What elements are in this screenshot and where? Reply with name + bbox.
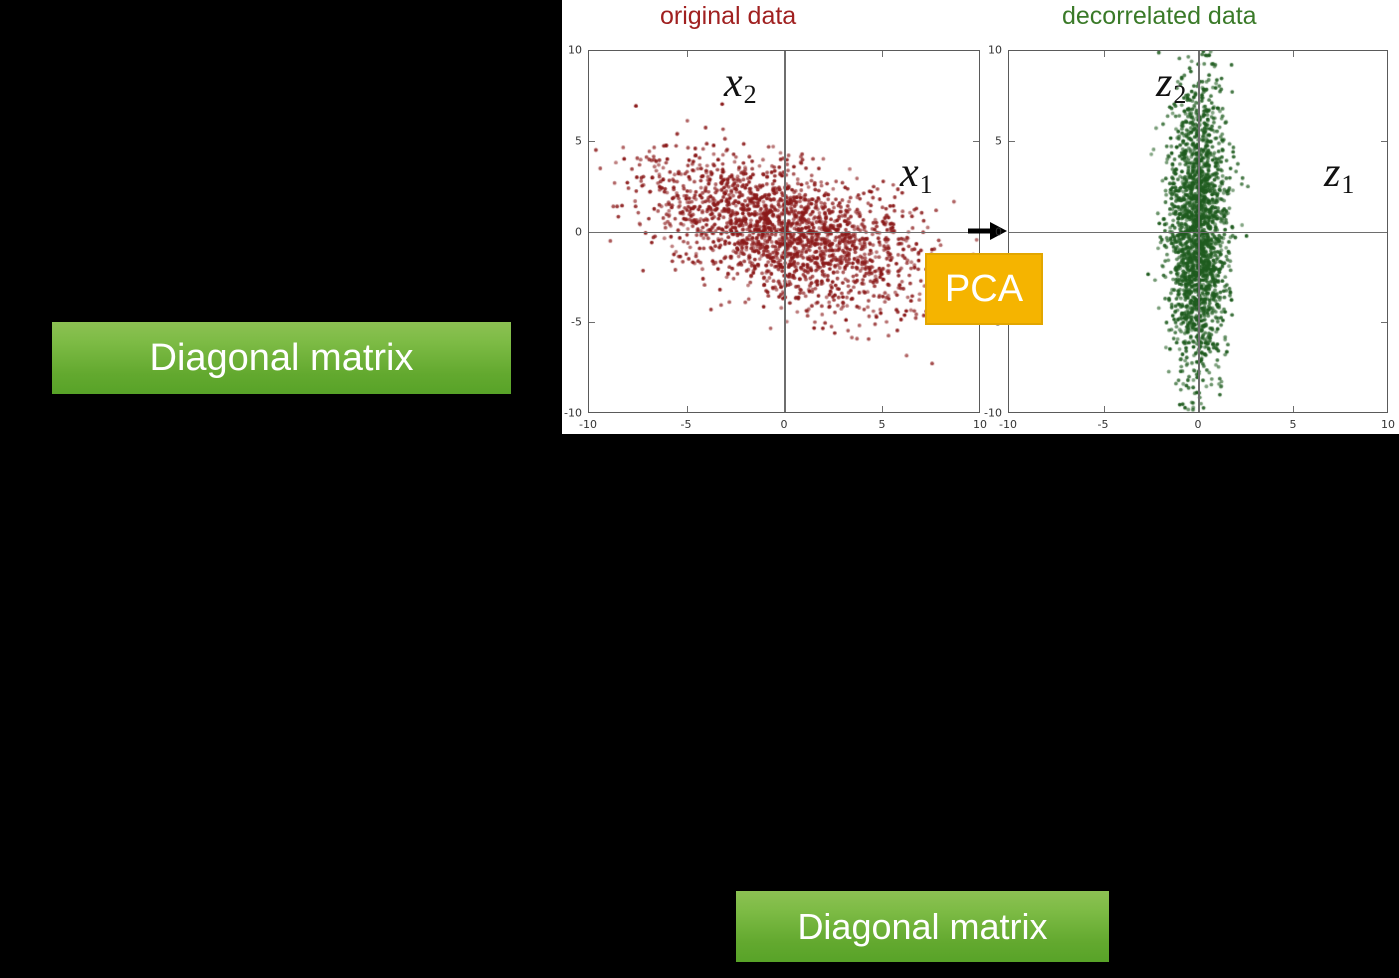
ytick-right-decorrelated-2 [1381, 322, 1387, 323]
scatter-plot-original [588, 50, 980, 413]
scatter-plot-decorrelated [1008, 50, 1388, 413]
ytick-original-2 [589, 322, 595, 323]
xtick-decorrelated-2 [1293, 406, 1294, 412]
xtick-top-original-2 [882, 51, 883, 57]
xtick-label-decorrelated-m10: -10 [999, 418, 1017, 431]
ytick-right-decorrelated-1 [1381, 141, 1387, 142]
axis-variable-z2-sub: 2 [1173, 80, 1186, 109]
ytick-label-original-5: 5 [560, 134, 582, 147]
axis-variable-z1-base: z [1324, 150, 1340, 196]
axis-variable-x2-sub: 2 [744, 80, 757, 109]
ytick-original-1 [589, 141, 595, 142]
ytick-right-original-1 [973, 141, 979, 142]
xtick-label-decorrelated-5: 5 [1290, 418, 1297, 431]
figure-panel: original data decorrelated data 10 5 0 -… [562, 0, 1399, 434]
zero-line-horizontal-original [589, 232, 979, 234]
plot-title-original: original data [660, 2, 796, 31]
xtick-label-original-m10: -10 [579, 418, 597, 431]
xtick-top-decorrelated-2 [1293, 51, 1294, 57]
axis-variable-x1-base: x [900, 150, 919, 196]
axis-variable-label-x1: x1 [900, 152, 933, 198]
xtick-label-original-10: 10 [973, 418, 987, 431]
axis-variable-label-x2: x2 [724, 62, 757, 108]
ytick-label-decorrelated-0: 0 [980, 225, 1002, 238]
axis-variable-z1-sub: 1 [1341, 170, 1354, 199]
ytick-label-decorrelated-10: 10 [980, 44, 1002, 57]
diagonal-matrix-chip-lower: Diagonal matrix [736, 891, 1109, 962]
ytick-label-original-0: 0 [560, 225, 582, 238]
xtick-label-decorrelated-10: 10 [1381, 418, 1395, 431]
ytick-label-decorrelated-5: 5 [980, 134, 1002, 147]
xtick-original-1 [687, 406, 688, 412]
axis-variable-x2-base: x [724, 60, 743, 106]
ytick-label-original-m5: -5 [560, 316, 582, 329]
diagonal-matrix-chip-upper: Diagonal matrix [52, 322, 511, 394]
ytick-decorrelated-1 [1009, 141, 1015, 142]
xtick-label-original-m5: -5 [681, 418, 692, 431]
xtick-label-decorrelated-0: 0 [1195, 418, 1202, 431]
xtick-top-decorrelated-1 [1104, 51, 1105, 57]
xtick-label-original-5: 5 [879, 418, 886, 431]
axis-variable-label-z2: z2 [1156, 62, 1186, 108]
plot-title-decorrelated: decorrelated data [1062, 2, 1257, 31]
xtick-label-decorrelated-m5: -5 [1098, 418, 1109, 431]
axis-variable-z2-base: z [1156, 60, 1172, 106]
xtick-decorrelated-1 [1104, 406, 1105, 412]
zero-line-horizontal-decorrelated [1009, 232, 1387, 234]
ytick-label-original-10: 10 [560, 44, 582, 57]
axis-variable-label-z1: z1 [1324, 152, 1354, 198]
axis-variable-x1-sub: 1 [920, 170, 933, 199]
xtick-original-2 [882, 406, 883, 412]
pca-label-chip: PCA [925, 253, 1043, 325]
xtick-top-original-1 [687, 51, 688, 57]
xtick-label-original-0: 0 [781, 418, 788, 431]
